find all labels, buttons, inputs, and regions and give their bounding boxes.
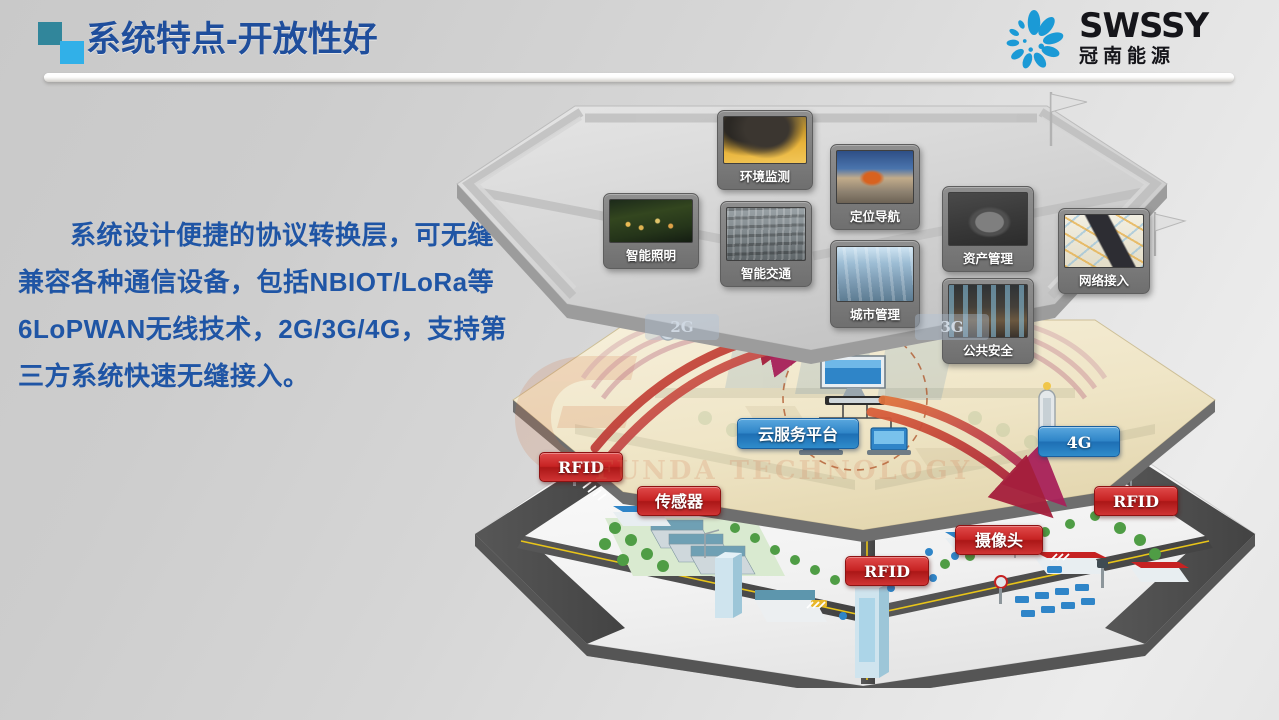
app-tile-label: 公共安全 bbox=[948, 338, 1028, 363]
app-tile-environment-monitoring[interactable]: 环境监测 bbox=[717, 110, 813, 190]
smart-lighting-thumbnail bbox=[609, 199, 693, 243]
network-access-thumbnail bbox=[1064, 214, 1144, 268]
title-accent-squares bbox=[38, 22, 84, 64]
page-header: 系统特点-开放性好 SWSSY 冠南能源 bbox=[0, 0, 1279, 92]
sensor-badge-sensor-1[interactable]: 传感器 bbox=[637, 486, 721, 516]
brand-name: SWSSY bbox=[1079, 8, 1208, 44]
urban-management-thumbnail bbox=[836, 246, 914, 302]
water-droplet-flower-logo-icon bbox=[1001, 8, 1067, 74]
app-tile-asset-management[interactable]: 资产管理 bbox=[942, 186, 1034, 272]
network-badge-3g: 3G bbox=[915, 314, 989, 340]
app-tile-label: 环境监测 bbox=[723, 164, 807, 189]
app-tile-label: 资产管理 bbox=[948, 246, 1028, 271]
asset-management-thumbnail bbox=[948, 192, 1028, 246]
app-tile-label: 网络接入 bbox=[1064, 268, 1144, 293]
smart-transportation-thumbnail bbox=[726, 207, 806, 261]
sensor-badge-rfid-1[interactable]: RFID bbox=[539, 452, 623, 482]
positioning-navigation-thumbnail bbox=[836, 150, 914, 204]
environment-monitoring-thumbnail bbox=[723, 116, 807, 164]
page-title: 系统特点-开放性好 bbox=[86, 14, 378, 66]
brand-subtitle: 冠南能源 bbox=[1079, 45, 1208, 69]
app-tile-positioning-navigation[interactable]: 定位导航 bbox=[830, 144, 920, 230]
brand-text: SWSSY 冠南能源 bbox=[1079, 8, 1208, 69]
sensor-badge-rfid-3[interactable]: RFID bbox=[1094, 486, 1178, 516]
cloud-platform-badge[interactable]: 云服务平台 bbox=[737, 418, 859, 449]
app-tile-network-access[interactable]: 网络接入 bbox=[1058, 208, 1150, 294]
smart-city-architecture-diagram: 智能照明 环境监测 智能交通 定位导航 城市管理 资产管理 公共安全 网络接入 … bbox=[455, 88, 1279, 688]
app-tile-label: 智能交通 bbox=[726, 261, 806, 286]
brand-logo: SWSSY 冠南能源 bbox=[1001, 6, 1251, 78]
network-badge-2g: 2G bbox=[645, 314, 719, 340]
sensor-badge-camera[interactable]: 摄像头 bbox=[955, 525, 1043, 555]
network-badge-4g[interactable]: 4G bbox=[1038, 426, 1120, 457]
sensor-badge-rfid-2[interactable]: RFID bbox=[845, 556, 929, 586]
app-tile-smart-lighting[interactable]: 智能照明 bbox=[603, 193, 699, 269]
accent-square-light-icon bbox=[60, 41, 84, 64]
app-tile-label: 定位导航 bbox=[836, 204, 914, 229]
app-tile-urban-management[interactable]: 城市管理 bbox=[830, 240, 920, 328]
app-tile-label: 智能照明 bbox=[609, 243, 693, 268]
accent-square-dark-icon bbox=[38, 22, 62, 45]
app-tile-label: 城市管理 bbox=[836, 302, 914, 327]
app-tile-smart-transportation[interactable]: 智能交通 bbox=[720, 201, 812, 287]
body-paragraph: 系统设计便捷的协议转换层，可无缝兼容各种通信设备，包括NBIOT/LoRa等6L… bbox=[18, 212, 508, 400]
